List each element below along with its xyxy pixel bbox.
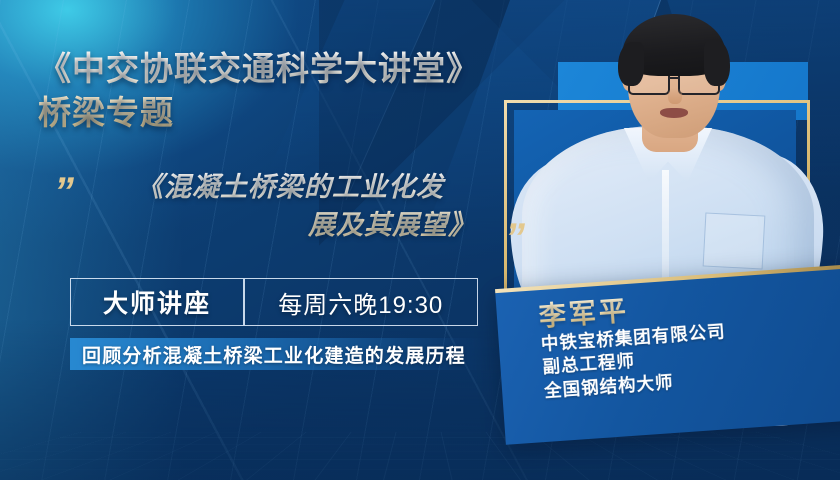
strapline-text: 回顾分析混凝土桥梁工业化建造的发展历程 [70,341,466,368]
promo-poster: 《中交协联交通科学大讲堂》 桥梁专题 ” 《混凝土桥梁的工业化发 展及其展望》 … [0,0,840,480]
photo-shirt-pocket [703,212,766,269]
lecture-schedule: 每周六晚19:30 [245,285,478,320]
speaker-card: 李军平 中铁宝桥集团有限公司 副总工程师 全国钢结构大师 [495,263,840,445]
photo-mouth [660,108,688,118]
subtitle-text: 《混凝土桥梁的工业化发 展及其展望》 [86,168,494,245]
subtitle-line-1: 《混凝土桥梁的工业化发 [86,168,494,206]
subtitle-block: ” 《混凝土桥梁的工业化发 展及其展望》 ” [52,168,522,264]
photo-nose [668,88,682,104]
quote-close-icon: ” [505,218,522,258]
strapline-banner: 回顾分析混凝土桥梁工业化建造的发展历程 [70,338,490,370]
page-title: 《中交协联交通科学大讲堂》 桥梁专题 [38,47,538,134]
photo-hair [622,14,726,76]
headline-line-2: 桥梁专题 [38,91,538,135]
lecture-info-box: 大师讲座 每周六晚19:30 [70,278,478,326]
quote-open-icon: ” [54,172,71,212]
lecture-type-label: 大师讲座 [71,284,243,320]
subtitle-line-2: 展及其展望》 [86,206,494,244]
headline-line-1: 《中交协联交通科学大讲堂》 [38,50,480,87]
